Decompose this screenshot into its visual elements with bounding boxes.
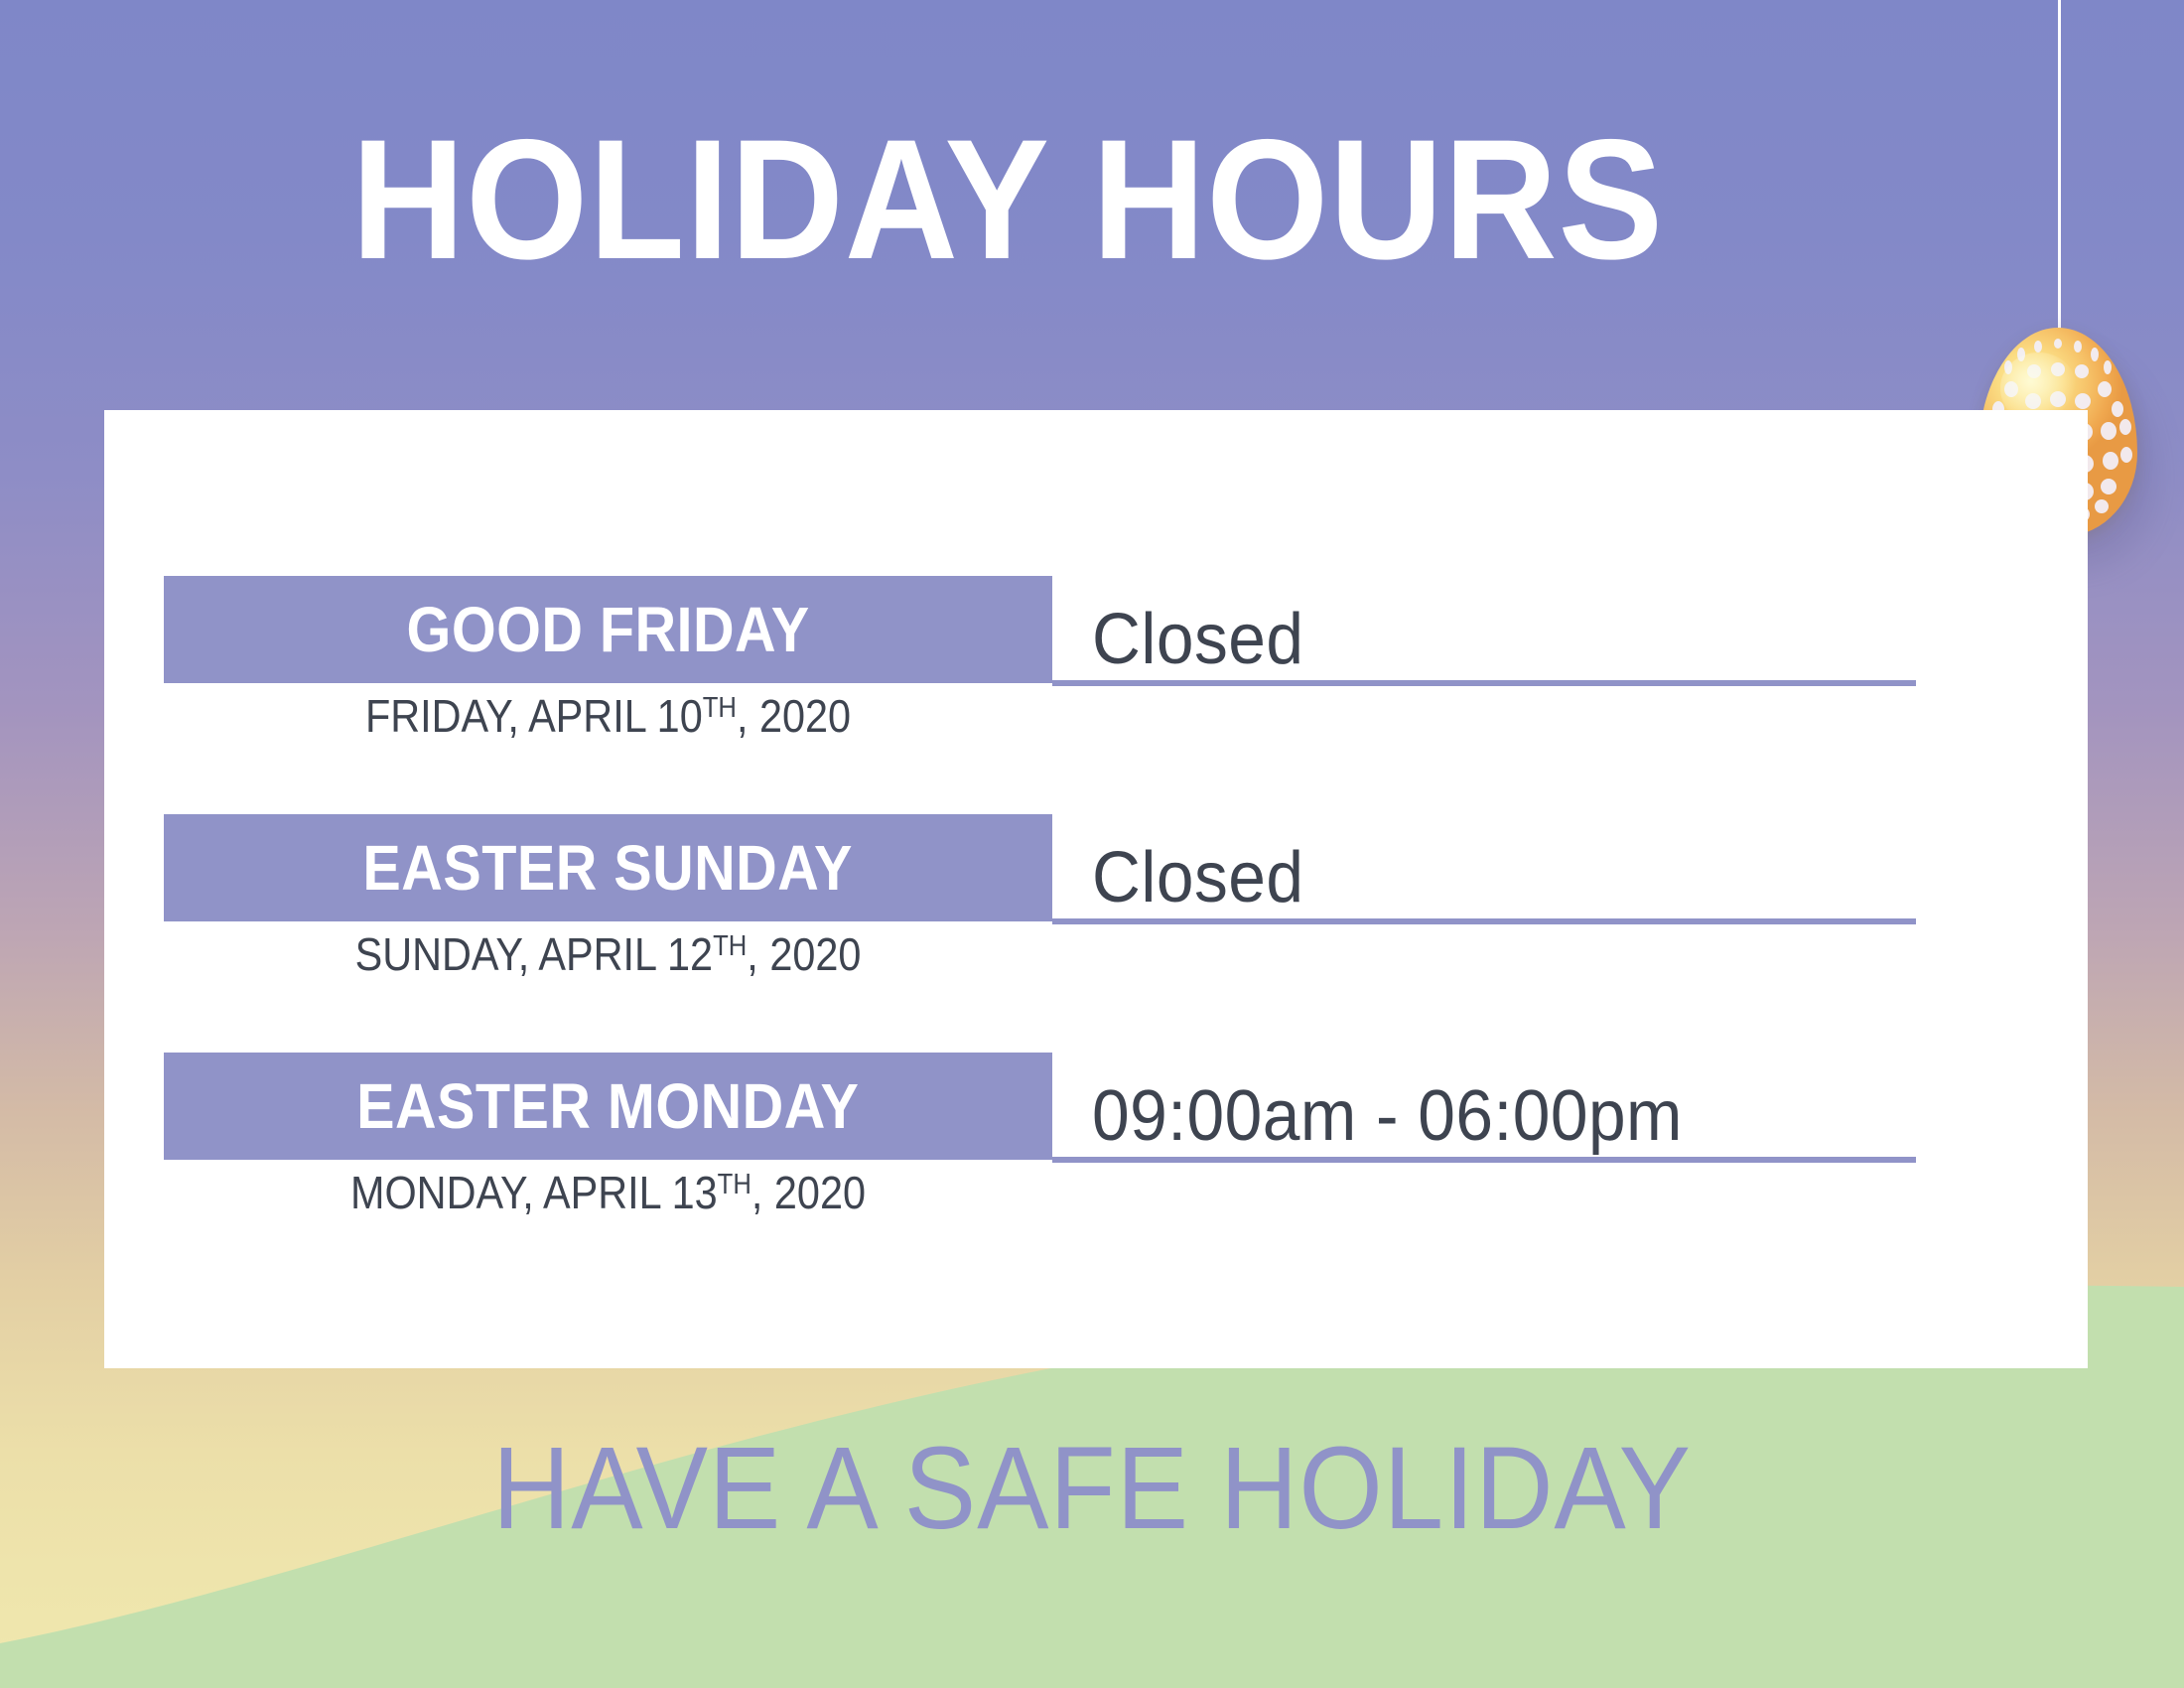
day-date-prefix: MONDAY, APRIL 13	[350, 1167, 718, 1218]
hours-underline	[1052, 680, 1916, 686]
day-date-label: MONDAY, APRIL 13TH, 2020	[208, 1168, 1009, 1218]
day-date-suffix: , 2020	[747, 928, 861, 980]
hours-underline	[1052, 1157, 1916, 1163]
schedule-row: GOOD FRIDAY FRIDAY, APRIL 10TH, 2020 Clo…	[104, 564, 2088, 802]
hours-cell: 09:00am - 06:00pm	[1052, 1041, 1916, 1160]
day-name-label: EASTER MONDAY	[356, 1074, 859, 1138]
hanging-string-icon	[2058, 0, 2061, 338]
day-date-prefix: SUNDAY, APRIL 12	[355, 928, 714, 980]
page-title: HOLIDAY HOURS	[80, 114, 1935, 285]
hours-value: Closed	[1092, 604, 1303, 675]
holiday-hours-poster: HOLIDAY HOURS GOOD FRIDAY FRIDAY, APRIL …	[0, 0, 2184, 1688]
schedule-card: GOOD FRIDAY FRIDAY, APRIL 10TH, 2020 Clo…	[104, 410, 2088, 1368]
day-name-label: EASTER SUNDAY	[363, 836, 853, 900]
hours-cell: Closed	[1052, 802, 1916, 921]
day-date-suffix: , 2020	[751, 1167, 866, 1218]
hours-cell: Closed	[1052, 564, 1916, 683]
day-name-bar: EASTER SUNDAY	[164, 814, 1052, 921]
schedule-row: EASTER SUNDAY SUNDAY, APRIL 12TH, 2020 C…	[104, 802, 2088, 1041]
day-date-prefix: FRIDAY, APRIL 10	[365, 690, 703, 742]
footer-message: HAVE A SAFE HOLIDAY	[87, 1430, 2097, 1547]
day-name-bar: GOOD FRIDAY	[164, 576, 1052, 683]
schedule-row: EASTER MONDAY MONDAY, APRIL 13TH, 2020 0…	[104, 1041, 2088, 1279]
day-date-ordinal: TH	[718, 1169, 751, 1200]
day-date-suffix: , 2020	[737, 690, 851, 742]
hours-value: 09:00am - 06:00pm	[1092, 1080, 1683, 1152]
hours-underline	[1052, 918, 1916, 924]
day-date-ordinal: TH	[703, 692, 737, 724]
day-date-label: SUNDAY, APRIL 12TH, 2020	[208, 929, 1009, 980]
day-name-bar: EASTER MONDAY	[164, 1053, 1052, 1160]
day-date-label: FRIDAY, APRIL 10TH, 2020	[208, 691, 1009, 742]
schedule-rows: GOOD FRIDAY FRIDAY, APRIL 10TH, 2020 Clo…	[104, 410, 2088, 1368]
day-name-label: GOOD FRIDAY	[406, 598, 809, 661]
day-date-ordinal: TH	[713, 930, 747, 962]
hours-value: Closed	[1092, 842, 1303, 914]
